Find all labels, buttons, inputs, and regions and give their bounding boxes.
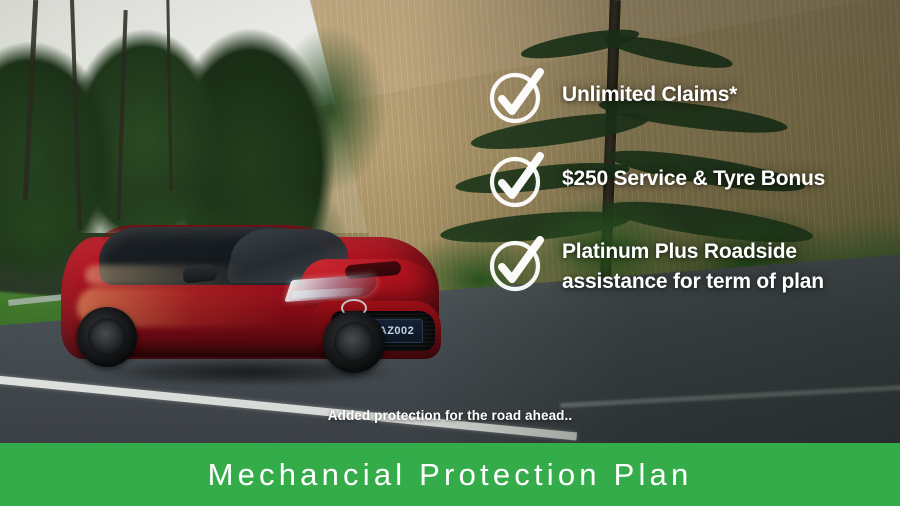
footer-title: Mechancial Protection Plan: [208, 457, 693, 493]
feature-list: Unlimited Claims* $250 Service & Tyre Bo…: [486, 66, 890, 297]
feature-item-roadside-assistance: Platinum Plus Roadside assistance for te…: [486, 234, 890, 297]
mechanical-protection-plan-banner: GAZ002 Unlimited Claims*: [0, 0, 900, 506]
feature-item-service-tyre-bonus: $250 Service & Tyre Bonus: [486, 150, 890, 210]
feature-label-line-1: Platinum Plus Roadside: [562, 237, 824, 267]
feature-item-unlimited-claims: Unlimited Claims*: [486, 66, 890, 126]
caption-text: Added protection for the road ahead..: [0, 408, 900, 423]
feature-label-line-2: assistance for term of plan: [562, 267, 824, 297]
feature-label: Unlimited Claims*: [562, 66, 737, 110]
circled-checkmark-icon: [486, 234, 546, 294]
footer-banner: Mechancial Protection Plan: [0, 443, 900, 506]
feature-label-multiline: Platinum Plus Roadside assistance for te…: [562, 234, 824, 297]
feature-label: $250 Service & Tyre Bonus: [562, 150, 825, 194]
circled-checkmark-icon: [486, 66, 546, 126]
circled-checkmark-icon: [486, 150, 546, 210]
